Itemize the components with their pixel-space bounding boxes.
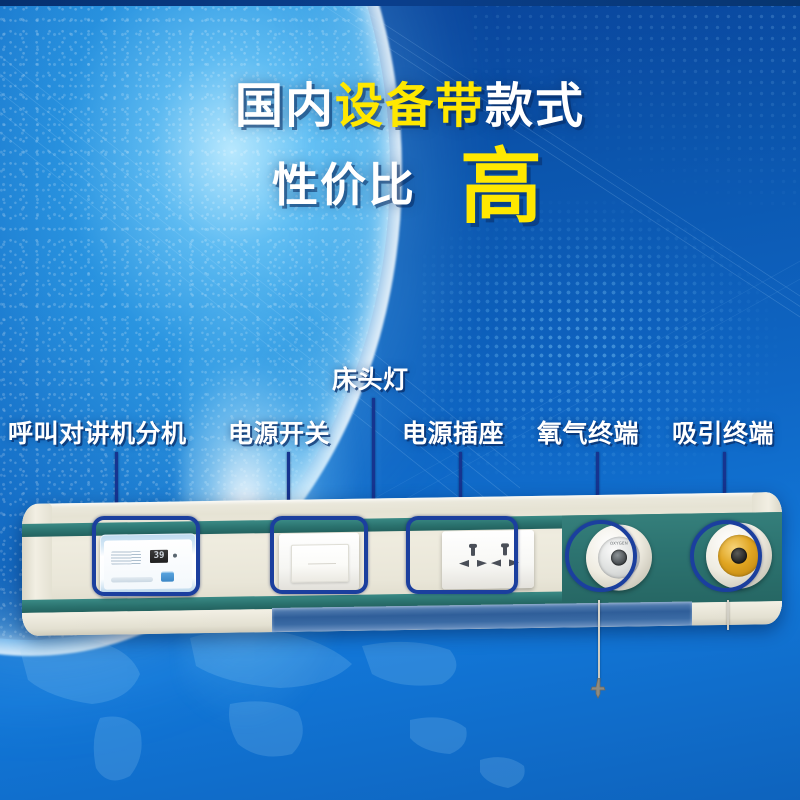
highlight-circle-suction [690,520,762,592]
callout-label-power-switch: 电源开关 [228,414,330,450]
highlight-box-power-switch [270,516,368,594]
highlight-box-intercom [92,516,200,596]
promo-banner: 国内设备带款式 性价比高 呼叫对讲机分机 电源开关 床头灯 电源插座 氧气终端 … [0,0,800,800]
callout-label-bed-lamp: 床头灯 [332,360,409,396]
callout-layer: 呼叫对讲机分机 电源开关 床头灯 电源插座 氧气终端 吸引终端 [0,0,800,800]
highlight-circle-oxygen [565,520,637,592]
callout-label-intercom: 呼叫对讲机分机 [8,414,187,450]
callout-label-oxygen-terminal: 氧气终端 [537,414,639,450]
cord-pull-handle-icon[interactable] [589,678,609,708]
highlight-box-power-socket [406,516,518,594]
callout-label-suction-terminal: 吸引终端 [672,414,774,450]
oxygen-hose-cord [598,600,600,682]
callout-label-power-socket: 电源插座 [402,414,504,450]
suction-hose-cord [727,600,729,630]
